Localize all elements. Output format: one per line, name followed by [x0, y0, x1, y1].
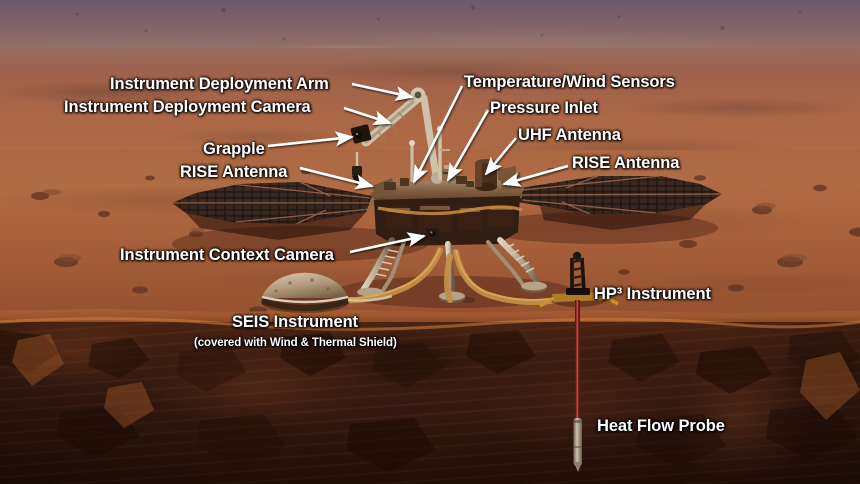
- label-seis-instrument: SEIS Instrument: [232, 314, 358, 331]
- subsurface-cutaway: [0, 322, 860, 484]
- label-instrument-context-camera: Instrument Context Camera: [120, 247, 334, 264]
- label-grapple: Grapple: [203, 141, 265, 158]
- label-rise-antenna-right: RISE Antenna: [572, 155, 679, 172]
- label-uhf-antenna: UHF Antenna: [518, 127, 621, 144]
- label-instrument-deployment-arm: Instrument Deployment Arm: [110, 76, 329, 93]
- label-rise-antenna-left: RISE Antenna: [180, 164, 287, 181]
- label-temperature-wind-sensors: Temperature/Wind Sensors: [464, 74, 675, 91]
- subsurface-vignette: [0, 322, 860, 484]
- label-instrument-deployment-camera: Instrument Deployment Camera: [64, 99, 311, 116]
- label-seis-sub: (covered with Wind & Thermal Shield): [194, 337, 397, 349]
- label-heat-flow-probe: Heat Flow Probe: [597, 418, 725, 435]
- mars-lander-illustration: Instrument Deployment ArmInstrument Depl…: [0, 0, 860, 484]
- label-pressure-inlet: Pressure Inlet: [490, 100, 598, 117]
- foreground-ground: [0, 150, 860, 330]
- label-hp3-instrument: HP³ Instrument: [594, 286, 711, 303]
